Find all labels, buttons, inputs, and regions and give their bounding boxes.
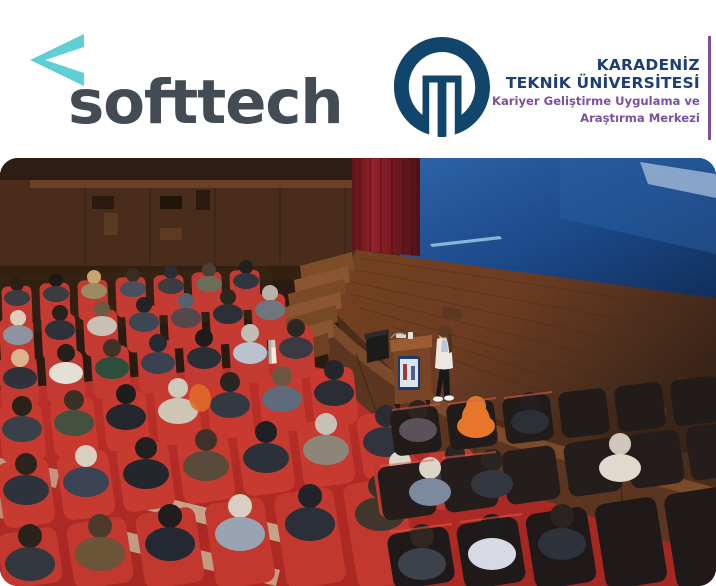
auditorium-photo <box>0 158 716 586</box>
ktu-center-line2: Araştırma Merkezi <box>580 111 700 126</box>
auditorium-scene <box>0 158 716 586</box>
ktu-center-line1: Kariyer Geliştirme Uygulama ve <box>492 94 700 109</box>
ktu-university-line2: TEKNİK ÜNİVERSİTESİ <box>506 74 700 92</box>
softtech-wordmark: softtech <box>68 72 342 133</box>
ktu-logo-lockup: KARADENİZ TEKNİK ÜNİVERSİTESİ Kariyer Ge… <box>392 32 704 144</box>
softtech-logo: softtech <box>20 24 340 134</box>
ktu-university-line1: KARADENİZ <box>597 56 700 74</box>
ktu-emblem-icon <box>392 36 492 140</box>
header-logos: softtech KARADENİZ TEKNİK ÜNİVERSİTESİ K… <box>0 0 716 155</box>
ktu-vertical-divider <box>708 36 711 140</box>
ktu-text-block: KARADENİZ TEKNİK ÜNİVERSİTESİ Kariyer Ge… <box>492 50 708 127</box>
